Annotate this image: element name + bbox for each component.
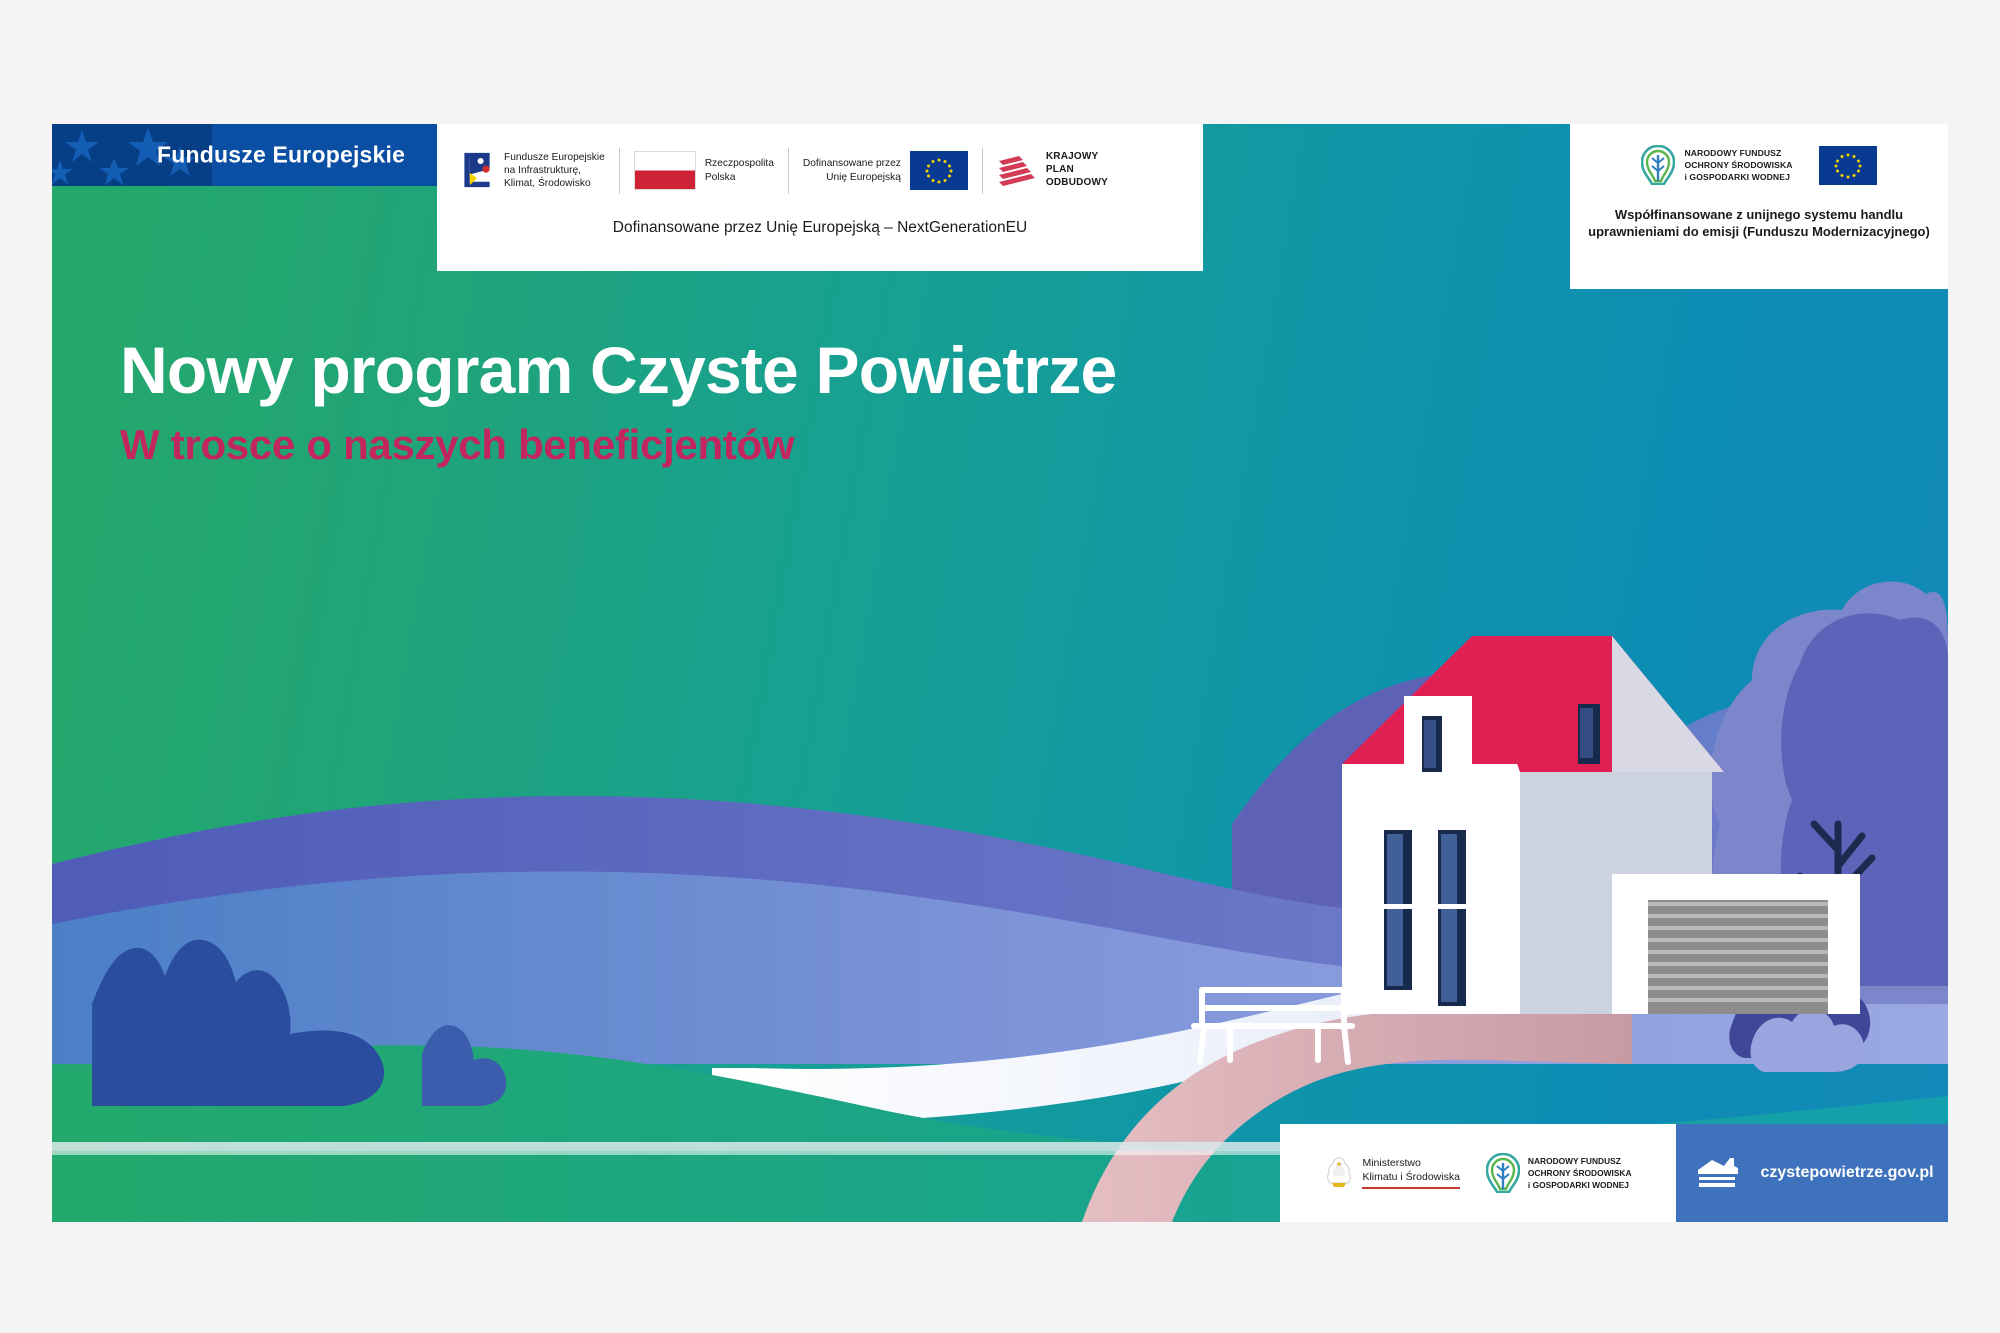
nfosigw-logo: NARODOWY FUNDUSZ OCHRONY ŚRODOWISKA i GO… bbox=[1641, 145, 1792, 185]
nextgeneration-caption: Dofinansowane przez Unię Europejską – Ne… bbox=[437, 217, 1203, 271]
slide-canvas: Fundusze Europejskie Fundusze Europejski… bbox=[52, 124, 1948, 1222]
fundusze-europejskie-logo: Fundusze Europejskie na Infrastrukturę, … bbox=[459, 151, 605, 190]
czystepowietrze-site-block[interactable]: czystepowietrze.gov.pl bbox=[1676, 1124, 1948, 1222]
nfosigw-icon bbox=[1486, 1153, 1520, 1193]
logo-divider bbox=[788, 148, 789, 194]
rzeczpospolita-polska-text: Rzeczpospolita Polska bbox=[705, 157, 774, 183]
czyste-powietrze-house-icon bbox=[1690, 1152, 1744, 1194]
ministry-label: Ministerstwo Klimatu i Środowiska bbox=[1362, 1157, 1459, 1189]
footer-nfosigw-logo: NARODOWY FUNDUSZ OCHRONY ŚRODOWISKA i GO… bbox=[1486, 1153, 1632, 1193]
site-url-label: czystepowietrze.gov.pl bbox=[1760, 1164, 1933, 1182]
logo-divider bbox=[982, 148, 983, 194]
polish-eagle-icon bbox=[1324, 1155, 1354, 1191]
page-title: Nowy program Czyste Powietrze bbox=[120, 336, 1116, 405]
krajowy-plan-odbudowy-icon bbox=[997, 153, 1037, 187]
logo-row: Fundusze Europejskie na Infrastrukturę, … bbox=[437, 124, 1203, 217]
eu-flag-icon bbox=[910, 151, 968, 190]
footer-nfosigw-label: NARODOWY FUNDUSZ OCHRONY ŚRODOWISKA i GO… bbox=[1528, 1155, 1632, 1191]
nfosigw-logo-panel: NARODOWY FUNDUSZ OCHRONY ŚRODOWISKA i GO… bbox=[1570, 124, 1948, 289]
eu-funding-logo-panel: Fundusze Europejskie na Infrastrukturę, … bbox=[437, 124, 1203, 271]
fundusze-europejskie-band: Fundusze Europejskie bbox=[52, 124, 437, 186]
polish-flag-icon bbox=[634, 151, 696, 190]
footer-bar: Ministerstwo Klimatu i Środowiska NARODO… bbox=[1280, 1124, 1948, 1222]
ets-modernisation-fund-caption: Współfinansowane z unijnego systemu hand… bbox=[1580, 206, 1938, 289]
rzeczpospolita-polska-logo: Rzeczpospolita Polska bbox=[634, 151, 774, 190]
nfosigw-logo-text: NARODOWY FUNDUSZ OCHRONY ŚRODOWISKA i GO… bbox=[1684, 147, 1792, 184]
fundusze-europejskie-label: Fundusze Europejskie bbox=[157, 142, 405, 169]
fundusze-europejskie-icon bbox=[459, 151, 495, 189]
eu-cofunding-logo: Dofinansowane przez Unię Europejską bbox=[803, 151, 968, 190]
krajowy-plan-odbudowy-text: KRAJOWY PLAN ODBUDOWY bbox=[1046, 151, 1108, 189]
headline-group: Nowy program Czyste Powietrze W trosce o… bbox=[120, 336, 1116, 469]
fundusze-europejskie-logo-text: Fundusze Europejskie na Infrastrukturę, … bbox=[504, 151, 605, 190]
page-subtitle: W trosce o naszych beneficjentów bbox=[120, 421, 1116, 469]
logo-row: NARODOWY FUNDUSZ OCHRONY ŚRODOWISKA i GO… bbox=[1570, 124, 1948, 206]
eu-flag-icon bbox=[1819, 146, 1877, 185]
eu-cofunding-text: Dofinansowane przez Unię Europejską bbox=[803, 157, 901, 183]
logo-divider bbox=[619, 148, 620, 194]
footer-institutions: Ministerstwo Klimatu i Środowiska NARODO… bbox=[1280, 1124, 1676, 1222]
ministry-logo: Ministerstwo Klimatu i Środowiska bbox=[1324, 1155, 1459, 1191]
krajowy-plan-odbudowy-logo: KRAJOWY PLAN ODBUDOWY bbox=[997, 151, 1108, 189]
nfosigw-icon bbox=[1641, 145, 1675, 185]
